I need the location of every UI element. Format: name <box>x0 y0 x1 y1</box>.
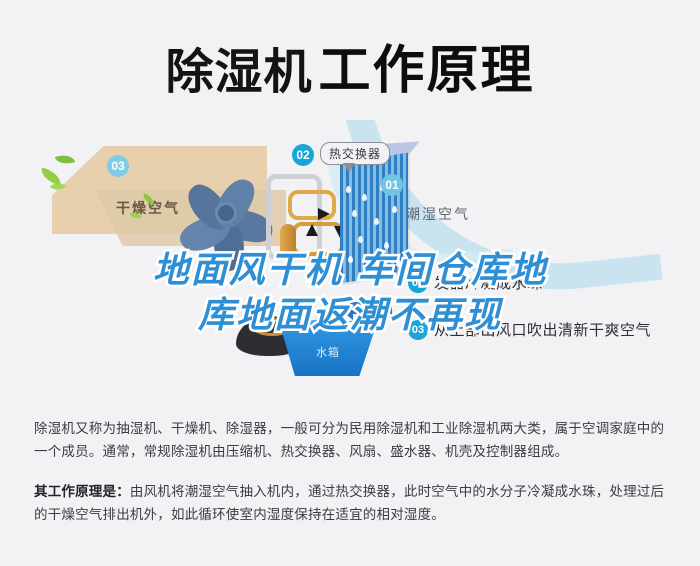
heat-exchanger-callout: 热交换器 <box>320 142 390 165</box>
title-part-2: 工作原理 <box>319 41 535 101</box>
fan-hub <box>215 202 237 224</box>
condensation-droplets <box>340 180 410 290</box>
humid-air-label: 潮湿空气 <box>406 204 470 224</box>
flow-arrow-up-icon <box>306 224 318 236</box>
title-part-1: 除湿机 <box>165 44 312 100</box>
body-copy: 除湿机又称为抽湿机、干燥机、除湿器，一般可分为民用除湿机和工业除湿机两大类，属于… <box>34 418 670 527</box>
note-text: 发器冷凝成水珠 <box>434 272 543 293</box>
list-item: 03 从上部出风口吹出清新干爽空气 <box>408 319 700 340</box>
note-badge: 02 <box>408 273 428 293</box>
flow-arrow-right-icon <box>318 208 330 220</box>
receiver-cylinder <box>280 224 296 258</box>
paragraph-principle: 其工作原理是：由风机将潮湿空气抽入机内，通过热交换器，此时空气中的水分子冷凝成水… <box>34 481 670 527</box>
callout-badge-01: 01 <box>381 174 403 196</box>
paragraph-definition: 除湿机又称为抽湿机、干燥机、除湿器，一般可分为民用除湿机和工业除湿机两大类，属于… <box>34 418 670 464</box>
page-title: 除湿机工作原理 <box>0 28 700 103</box>
dehumidifier-diagram: 干燥空气 <box>0 120 700 400</box>
water-tank-label: 水箱 <box>316 344 340 360</box>
callout-badge-03: 03 <box>107 155 129 177</box>
water-tank: 水箱 <box>272 318 380 378</box>
paragraph-principle-lead: 其工作原理是： <box>34 484 130 500</box>
list-item: 02 发器冷凝成水珠 <box>408 272 700 293</box>
process-notes-list: 02 发器冷凝成水珠 03 从上部出风口吹出清新干爽空气 <box>408 272 700 366</box>
callout-badge-02: 02 <box>292 144 314 166</box>
leaf-icon <box>55 151 76 167</box>
infographic-page: 除湿机工作原理 干燥空气 <box>0 0 700 566</box>
air-intake-arrow-icon <box>352 302 392 314</box>
note-text: 从上部出风口吹出清新干爽空气 <box>434 319 651 340</box>
note-badge: 03 <box>408 320 428 340</box>
